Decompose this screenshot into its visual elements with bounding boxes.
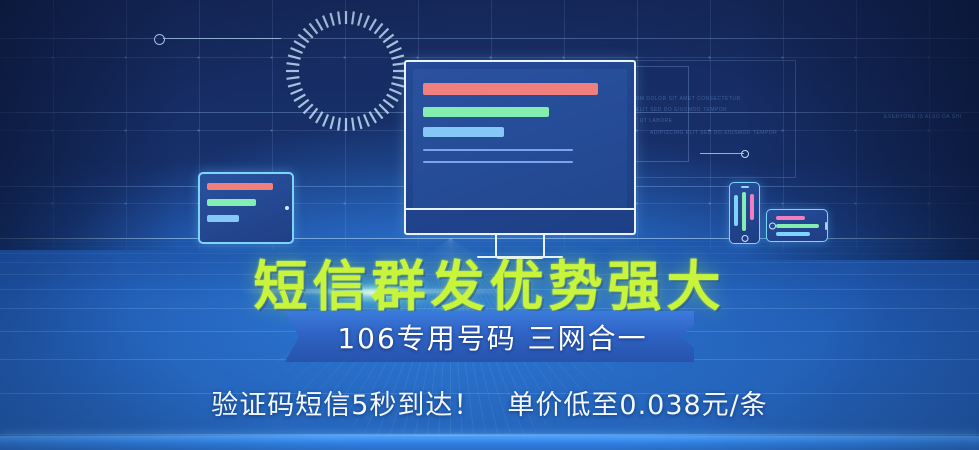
vignette-overlay xyxy=(0,0,979,450)
sms-marketing-banner: LOREM IPSUM DOLOR SIT AMET CONSECTETUR A… xyxy=(0,0,979,450)
